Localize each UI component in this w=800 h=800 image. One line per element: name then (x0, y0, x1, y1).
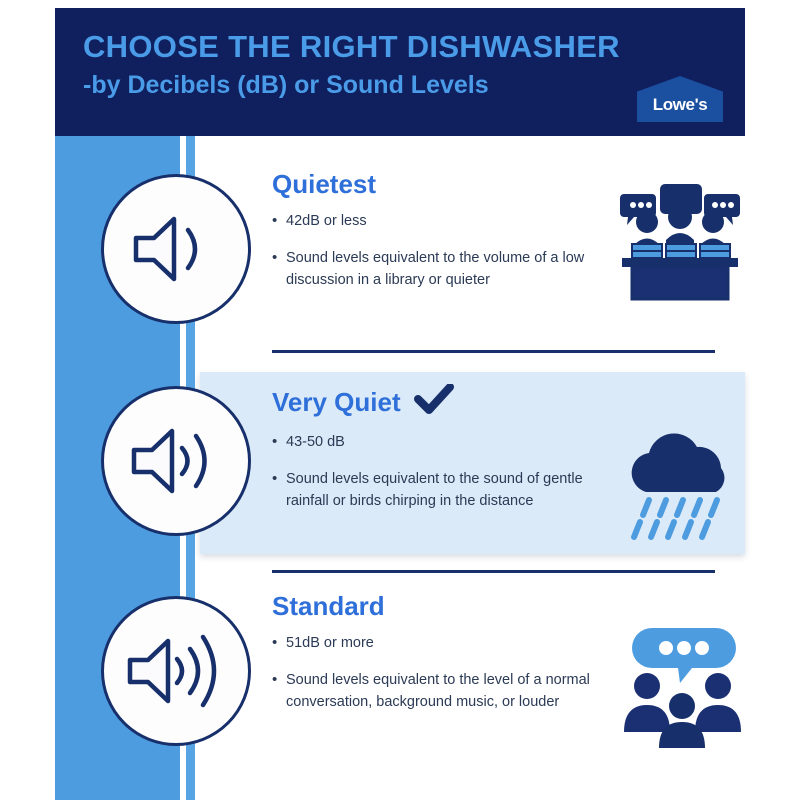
section-title-text: Standard (272, 592, 385, 621)
section-body-very-quiet: Very Quiet 43-50 dB Sound levels equival… (272, 384, 612, 513)
bullet-list-quietest: 42dB or less Sound levels equivalent to … (272, 211, 612, 292)
bullet-item: 43-50 dB (272, 432, 612, 454)
speaker-3-waves-icon (122, 624, 230, 718)
section-divider (272, 350, 715, 353)
bullet-item: 51dB or more (272, 633, 612, 655)
bullet-item: 42dB or less (272, 211, 612, 233)
library-discussion-icon (610, 172, 750, 302)
page-title: CHOOSE THE RIGHT DISHWASHER (83, 30, 745, 65)
section-title-quietest: Quietest (272, 170, 612, 199)
lowes-logo-text: Lowe's (653, 95, 708, 122)
speaker-badge-quietest (101, 174, 251, 324)
people-conversation-illustration (614, 620, 754, 750)
bullet-item: Sound levels equivalent to the level of … (272, 670, 612, 714)
infographic-root: CHOOSE THE RIGHT DISHWASHER -by Decibels… (0, 0, 800, 800)
section-title-text: Very Quiet (272, 388, 401, 417)
section-title-text: Quietest (272, 170, 376, 199)
bullet-item: Sound levels equivalent to the sound of … (272, 469, 612, 513)
speaker-badge-standard (101, 596, 251, 746)
speaker-badge-very-quiet (101, 386, 251, 536)
rain-cloud-icon (616, 430, 756, 560)
rain-cloud-illustration (616, 430, 756, 560)
checkmark-icon (414, 384, 454, 420)
section-body-standard: Standard 51dB or more Sound levels equiv… (272, 592, 612, 714)
library-discussion-illustration (610, 172, 750, 302)
speaker-1-wave-icon (128, 206, 224, 292)
section-title-very-quiet: Very Quiet (272, 384, 612, 420)
speaker-2-waves-icon (126, 416, 226, 506)
header-banner: CHOOSE THE RIGHT DISHWASHER -by Decibels… (55, 8, 745, 136)
bullet-list-standard: 51dB or more Sound levels equivalent to … (272, 633, 612, 714)
bullet-list-very-quiet: 43-50 dB Sound levels equivalent to the … (272, 432, 612, 513)
bullet-item: Sound levels equivalent to the volume of… (272, 248, 612, 292)
section-body-quietest: Quietest 42dB or less Sound levels equiv… (272, 170, 612, 292)
section-title-standard: Standard (272, 592, 612, 621)
people-conversation-icon (614, 620, 754, 750)
section-divider (272, 570, 715, 573)
